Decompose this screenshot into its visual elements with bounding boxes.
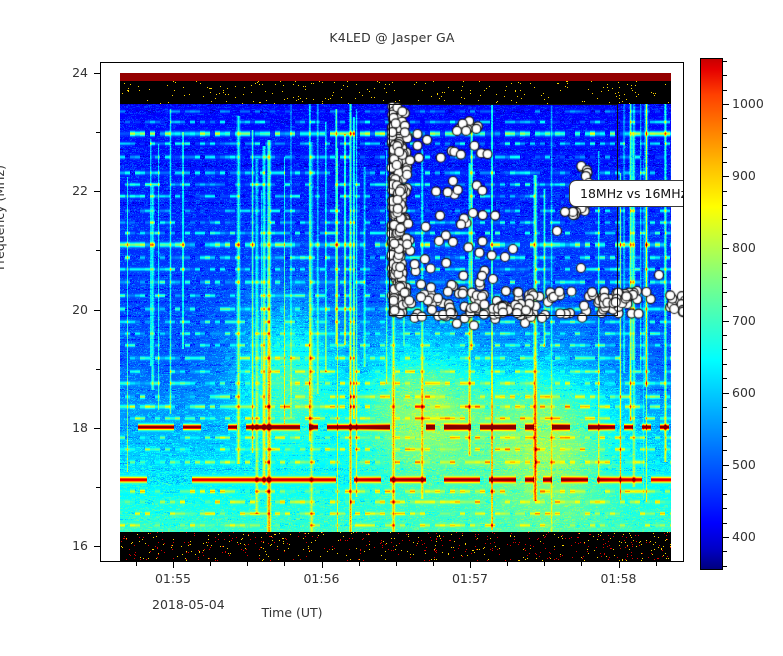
colorbar-minor-tick [723,191,727,192]
y-axis-minor-tick [96,250,100,251]
colorbar-minor-tick [723,306,727,307]
y-axis-major-tick [94,310,100,311]
x-axis-minor-tick [284,562,285,566]
colorbar-minor-tick [723,422,727,423]
x-axis-minor-tick [433,562,434,566]
x-axis-label: Time (UT) [261,605,322,620]
colorbar-minor-tick [723,450,727,451]
colorbar-minor-tick [723,407,727,408]
x-axis-minor-tick [544,562,545,566]
colorbar-minor-tick [723,551,727,552]
colorbar-minor-tick [723,61,727,62]
x-axis-minor-tick [247,562,248,566]
figure-canvas: K4LED @ Jasper GA 18MHz vs 16MHz Frequen… [0,0,783,656]
x-axis-major-tick [322,562,323,568]
colorbar-minor-tick [723,378,727,379]
colorbar-minor-tick [723,508,727,509]
y-axis-minor-tick [96,132,100,133]
x-axis-major-tick [173,562,174,568]
x-axis-minor-tick [359,562,360,566]
x-axis-tick-label: 01:57 [435,571,505,586]
colorbar-major-tick [723,393,729,394]
colorbar-major-tick [723,537,729,538]
colorbar-tick-label: 800 [732,240,756,255]
colorbar-minor-tick [723,523,727,524]
colorbar-minor-tick [723,292,727,293]
colorbar-minor-tick [723,219,727,220]
colorbar [700,58,723,570]
y-axis-tick-label: 24 [48,65,88,80]
colorbar-minor-tick [723,90,727,91]
y-axis-major-tick [94,428,100,429]
colorbar-tick-label: 500 [732,457,756,472]
colorbar-major-tick [723,248,729,249]
colorbar-minor-tick [723,162,727,163]
colorbar-minor-tick [723,566,727,567]
colorbar-tick-label: 1000 [732,96,764,111]
colorbar-tick-label: 900 [732,168,756,183]
x-axis-minor-tick [656,562,657,566]
inset-region-rectangle [389,104,618,316]
x-axis-minor-tick [210,562,211,566]
colorbar-minor-tick [723,133,727,134]
y-axis-label: Frequency (MHz) [0,165,7,270]
colorbar-major-tick [723,104,729,105]
y-axis-tick-label: 20 [48,302,88,317]
x-axis-minor-tick [581,562,582,566]
colorbar-minor-tick [723,349,727,350]
y-axis-major-tick [94,191,100,192]
colorbar-minor-tick [723,118,727,119]
colorbar-minor-tick [723,75,727,76]
colorbar-major-tick [723,176,729,177]
colorbar-minor-tick [723,335,727,336]
x-axis-tick-label: 01:58 [584,571,654,586]
y-axis-tick-label: 22 [48,183,88,198]
x-axis-minor-tick [507,562,508,566]
y-axis-minor-tick [96,369,100,370]
x-axis-minor-tick [136,562,137,566]
x-axis-tick-label: 01:55 [138,571,208,586]
x-axis-minor-tick [396,562,397,566]
colorbar-minor-tick [723,436,727,437]
colorbar-minor-tick [723,479,727,480]
y-axis-tick-label: 16 [48,538,88,553]
colorbar-major-tick [723,465,729,466]
main-axes: 18MHz vs 16MHz [100,62,684,562]
colorbar-tick-label: 700 [732,313,756,328]
y-axis-tick-label: 18 [48,420,88,435]
x-axis-major-tick [619,562,620,568]
colorbar-minor-tick [723,147,727,148]
y-axis-major-tick [94,73,100,74]
colorbar-minor-tick [723,234,727,235]
plot-title: K4LED @ Jasper GA [100,30,684,45]
colorbar-tick-label: 400 [732,529,756,544]
annotation-label: 18MHz vs 16MHz [569,180,684,207]
colorbar-minor-tick [723,364,727,365]
x-axis-major-tick [470,562,471,568]
colorbar-minor-tick [723,494,727,495]
y-axis-minor-tick [96,487,100,488]
x-axis-date-label: 2018-05-04 [152,597,225,612]
x-axis-tick-label: 01:56 [287,571,357,586]
colorbar-minor-tick [723,263,727,264]
colorbar-major-tick [723,321,729,322]
colorbar-minor-tick [723,205,727,206]
colorbar-tick-label: 600 [732,385,756,400]
y-axis-major-tick [94,546,100,547]
colorbar-minor-tick [723,277,727,278]
